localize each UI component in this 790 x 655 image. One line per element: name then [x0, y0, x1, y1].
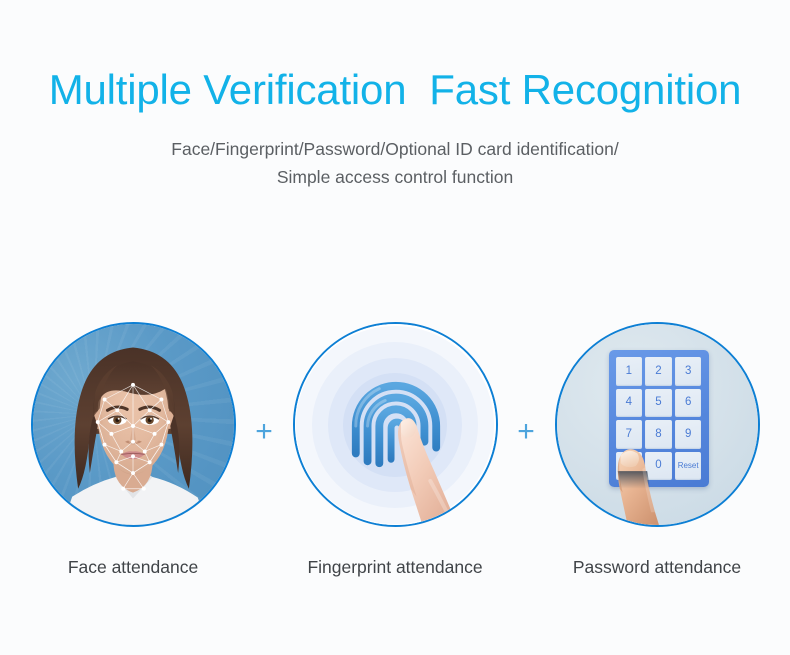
subtitle-line-1: Face/Fingerprint/Password/Optional ID ca…	[0, 135, 790, 163]
showcase-item-fingerprint[interactable]: Fingerprint attendance	[284, 322, 506, 578]
face-attendance-caption: Face attendance	[68, 557, 198, 578]
plus-separator-2: +	[506, 322, 546, 542]
keypad-pressing-finger-icon	[557, 324, 758, 525]
fingerprint-touch-icon	[295, 324, 496, 525]
page-subtitle: Face/Fingerprint/Password/Optional ID ca…	[0, 135, 790, 192]
feature-showcase: Face attendance +	[0, 322, 790, 578]
password-attendance-circle[interactable]: 1 2 3 4 5 6 7 8 9 Enter 0 Reset	[555, 322, 760, 527]
password-attendance-caption: Password attendance	[573, 557, 741, 578]
fingerprint-attendance-caption: Fingerprint attendance	[307, 557, 482, 578]
face-recognition-mesh-icon	[33, 324, 234, 525]
face-attendance-circle[interactable]	[31, 322, 236, 527]
fingerprint-attendance-circle[interactable]	[293, 322, 498, 527]
page-title: Multiple Verification Fast Recognition	[0, 68, 790, 112]
subtitle-line-2: Simple access control function	[0, 163, 790, 191]
plus-separator-1: +	[244, 322, 284, 542]
showcase-item-face[interactable]: Face attendance	[22, 322, 244, 578]
header: Multiple Verification Fast Recognition F…	[0, 0, 790, 192]
showcase-item-password[interactable]: 1 2 3 4 5 6 7 8 9 Enter 0 Reset	[546, 322, 768, 578]
